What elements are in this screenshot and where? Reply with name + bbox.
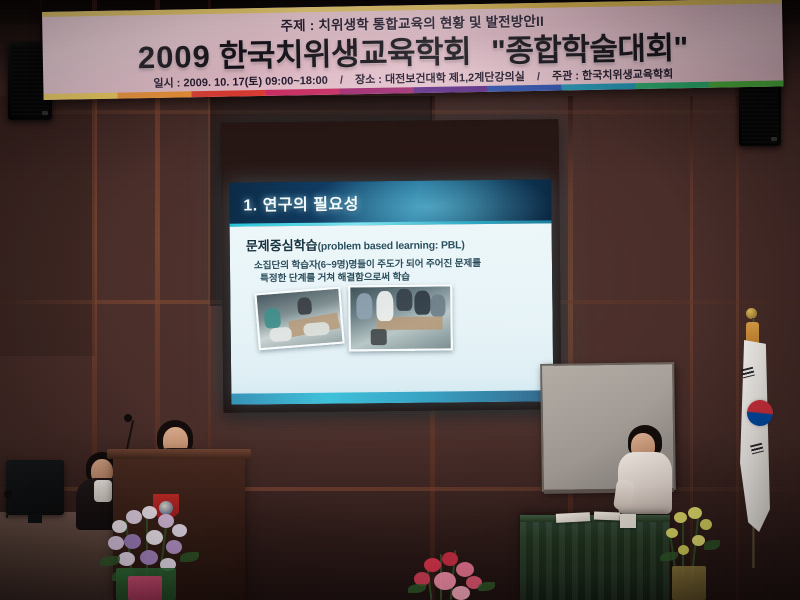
- speaker-badge: [42, 111, 48, 115]
- banner-place-label: 장소: [355, 74, 375, 86]
- conference-photo-scene: 주제 : 치위생학 통합교육의 현황 및 발전방안II 2009 한국치위생교육…: [0, 0, 800, 600]
- banner-title-year: 2009: [138, 39, 212, 75]
- bouquet-wrap: [672, 566, 706, 600]
- presentation-slide: 1. 연구의 필요성 문제중심학습(problem based learning…: [229, 179, 553, 404]
- banner-title-event: "종합학술대회": [491, 30, 688, 69]
- slide-heading-korean: 문제중심학습: [246, 238, 318, 254]
- banner-date-label: 일시: [153, 78, 173, 90]
- monitor-stand: [28, 514, 42, 523]
- person-collar: [94, 480, 112, 502]
- slide-body-line-2: 특정한 단계를 거쳐 해결함으로써 학습: [260, 269, 410, 285]
- wall-mullion: [690, 96, 693, 600]
- projection-screen: 1. 연구의 필요성 문제중심학습(problem based learning…: [220, 119, 561, 413]
- banner-host-label: 주관: [552, 70, 572, 82]
- slide-title-band: 1. 연구의 필요성: [229, 179, 551, 226]
- document-paper: [556, 512, 590, 523]
- banner-host-value: 한국치위생교육학회: [582, 68, 673, 82]
- wall-mullion: [736, 96, 739, 600]
- banner-separator: /: [340, 74, 343, 86]
- table-drape: [520, 522, 670, 600]
- podium-top-surface: [107, 449, 251, 459]
- speaker-badge: [771, 137, 777, 141]
- monitor: [6, 460, 64, 515]
- podium-microphone-head: [124, 414, 132, 422]
- paper-cup: [620, 514, 636, 528]
- document-paper: [594, 512, 620, 521]
- slide-heading: 문제중심학습(problem based learning: PBL): [246, 233, 465, 254]
- banner-title-org: 한국치위생교육학회: [219, 34, 472, 74]
- slide-content-body: 문제중심학습(problem based learning: PBL) 소집단의…: [230, 223, 554, 404]
- slide-photo-students-floor: [254, 287, 344, 351]
- green-draped-table: [520, 515, 670, 600]
- wall-panel: [0, 96, 95, 356]
- slide-photo-students-desk: [348, 284, 453, 351]
- banner-separator: /: [537, 71, 540, 83]
- slide-heading-english: (problem based learning: PBL): [317, 239, 464, 253]
- banner-place-value: 대전보건대학 제1,2계단강의실: [385, 71, 525, 86]
- bouquet-ribbon: [128, 576, 162, 600]
- conference-banner: 주제 : 치위생학 통합교육의 현황 및 발전방안II 2009 한국치위생교육…: [42, 0, 783, 100]
- banner-date-value: 2009. 10. 17(토) 09:00~18:00: [183, 75, 328, 90]
- slide-title: 1. 연구의 필요성: [243, 190, 359, 215]
